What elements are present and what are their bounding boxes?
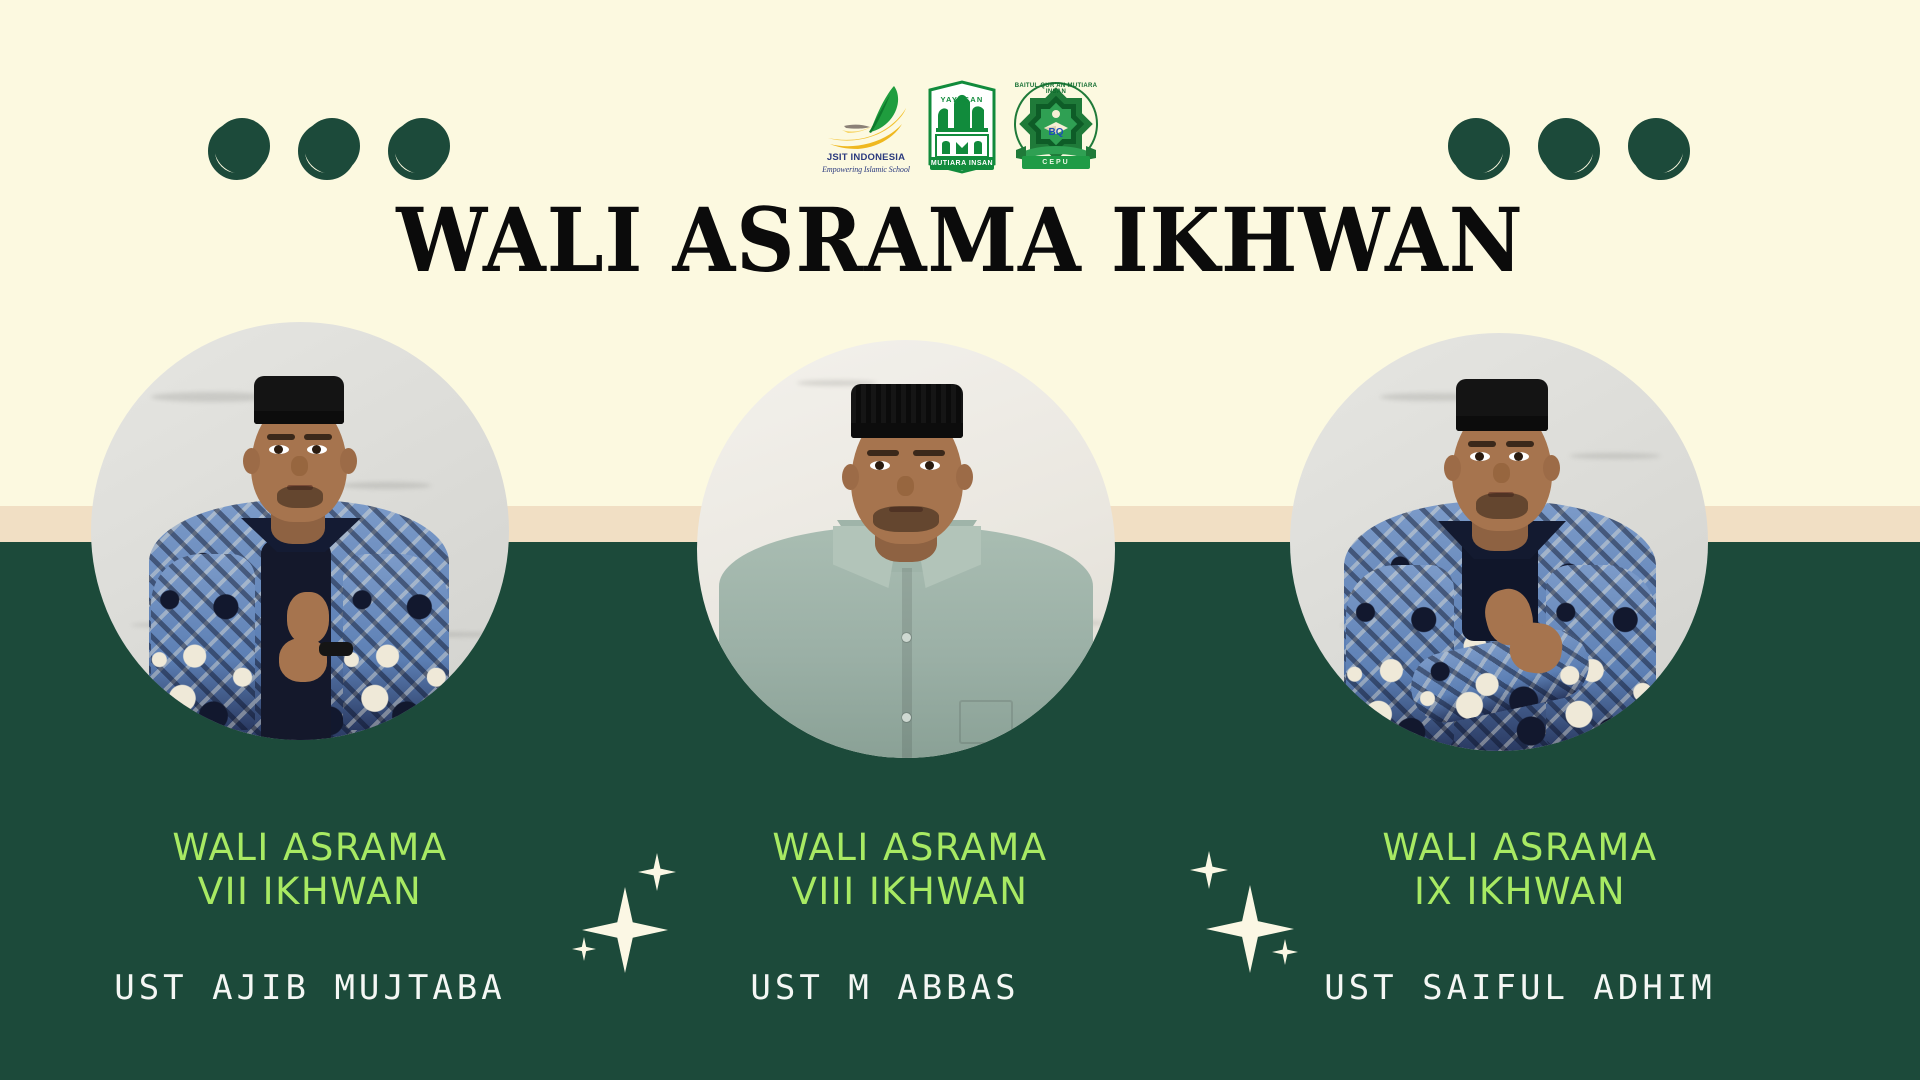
jsit-title-text: JSIT INDONESIA bbox=[820, 152, 912, 163]
column-label-3-line2: IX IKHWAN bbox=[1250, 870, 1790, 914]
yayasan-mutiara-insan-logo: YAYASAN MUTIARA INSAN bbox=[926, 80, 998, 174]
person-name-3: UST SAIFUL ADHIM bbox=[1250, 968, 1790, 1008]
jsit-indonesia-logo: JSIT INDONESIA Empowering Islamic School bbox=[820, 82, 912, 174]
column-label-2-line1: WALI ASRAMA bbox=[640, 826, 1180, 870]
decor-circle-icon bbox=[208, 118, 270, 180]
decor-circle-icon bbox=[1448, 118, 1510, 180]
column-label-2: WALI ASRAMA VIII IKHWAN bbox=[640, 826, 1180, 913]
column-label-1-line2: VII IKHWAN bbox=[40, 870, 580, 914]
person-name-2: UST M ABBAS bbox=[615, 968, 1155, 1008]
portrait-photo-2 bbox=[697, 340, 1115, 758]
column-label-2-line2: VIII IKHWAN bbox=[640, 870, 1180, 914]
decor-circle-icon bbox=[1538, 118, 1600, 180]
poster-canvas: JSIT INDONESIA Empowering Islamic School… bbox=[0, 0, 1920, 1080]
yayasan-bottom-text: MUTIARA INSAN bbox=[930, 157, 994, 170]
bq-monogram-text: BQ bbox=[1012, 127, 1100, 138]
jsit-tagline-text: Empowering Islamic School bbox=[820, 165, 912, 174]
bq-ring-text: BAITUL QUR'AN MUTIARA INSAN bbox=[1012, 83, 1100, 95]
portrait-photo-3 bbox=[1290, 333, 1708, 751]
column-label-3: WALI ASRAMA IX IKHWAN bbox=[1250, 826, 1790, 913]
column-label-3-line1: WALI ASRAMA bbox=[1250, 826, 1790, 870]
person-name-1: UST AJIB MUJTABA bbox=[40, 968, 580, 1008]
column-label-1-line1: WALI ASRAMA bbox=[40, 826, 580, 870]
portrait-photo-1 bbox=[91, 322, 509, 740]
decor-circles-left bbox=[208, 118, 450, 180]
decor-circle-icon bbox=[298, 118, 360, 180]
decor-circle-icon bbox=[1628, 118, 1690, 180]
page-title: WALI ASRAMA IKHWAN bbox=[77, 196, 1843, 284]
yayasan-top-text: YAYASAN bbox=[926, 95, 998, 104]
decor-circle-icon bbox=[388, 118, 450, 180]
decor-circles-right bbox=[1448, 118, 1690, 180]
jsit-mark-icon bbox=[820, 82, 912, 152]
column-label-1: WALI ASRAMA VII IKHWAN bbox=[40, 826, 580, 913]
bq-banner-text: CEPU bbox=[1022, 156, 1090, 169]
baitul-quran-mutiara-insan-logo: BAITUL QUR'AN MUTIARA INSAN BQ CEPU bbox=[1012, 80, 1100, 174]
